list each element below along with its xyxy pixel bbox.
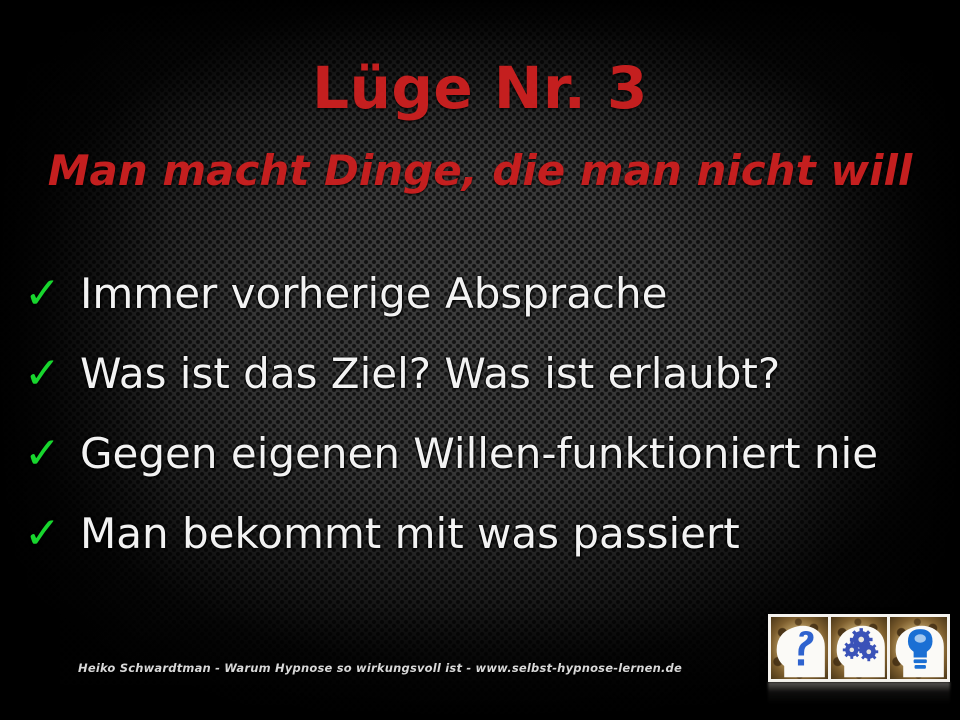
checkmark-icon: ✓: [24, 272, 80, 316]
logo-panel-question: [771, 617, 828, 679]
slide-subtitle: Man macht Dinge, die man nicht will: [0, 148, 960, 194]
list-item: ✓ Man bekommt mit was passiert: [24, 512, 944, 592]
checkmark-icon: ✓: [24, 432, 80, 476]
brand-logo: [768, 614, 950, 682]
head-lightbulb-icon: [890, 617, 947, 679]
logo-panel-gears: [831, 617, 888, 679]
head-question-mark-icon: [771, 617, 828, 679]
logo-panel-lightbulb: [890, 617, 947, 679]
logo-reflection: [768, 682, 950, 704]
checkmark-icon: ✓: [24, 512, 80, 556]
presentation-slide: Lüge Nr. 3 Man macht Dinge, die man nich…: [0, 0, 960, 720]
head-gears-icon: [831, 617, 888, 679]
list-item-label: Immer vorherige Absprache: [80, 273, 944, 315]
bullet-list: ✓ Immer vorherige Absprache ✓ Was ist da…: [24, 272, 944, 592]
list-item: ✓ Gegen eigenen Willen-funktioniert nie: [24, 432, 944, 512]
slide-content: Lüge Nr. 3 Man macht Dinge, die man nich…: [0, 0, 960, 720]
list-item-label: Man bekommt mit was passiert: [80, 513, 944, 555]
slide-footer-credit: Heiko Schwardtman - Warum Hypnose so wir…: [0, 661, 760, 675]
checkmark-icon: ✓: [24, 352, 80, 396]
list-item-label: Gegen eigenen Willen-funktioniert nie: [80, 433, 944, 475]
list-item: ✓ Was ist das Ziel? Was ist erlaubt?: [24, 352, 944, 432]
slide-title: Lüge Nr. 3: [0, 58, 960, 119]
list-item-label: Was ist das Ziel? Was ist erlaubt?: [80, 353, 944, 395]
list-item: ✓ Immer vorherige Absprache: [24, 272, 944, 352]
